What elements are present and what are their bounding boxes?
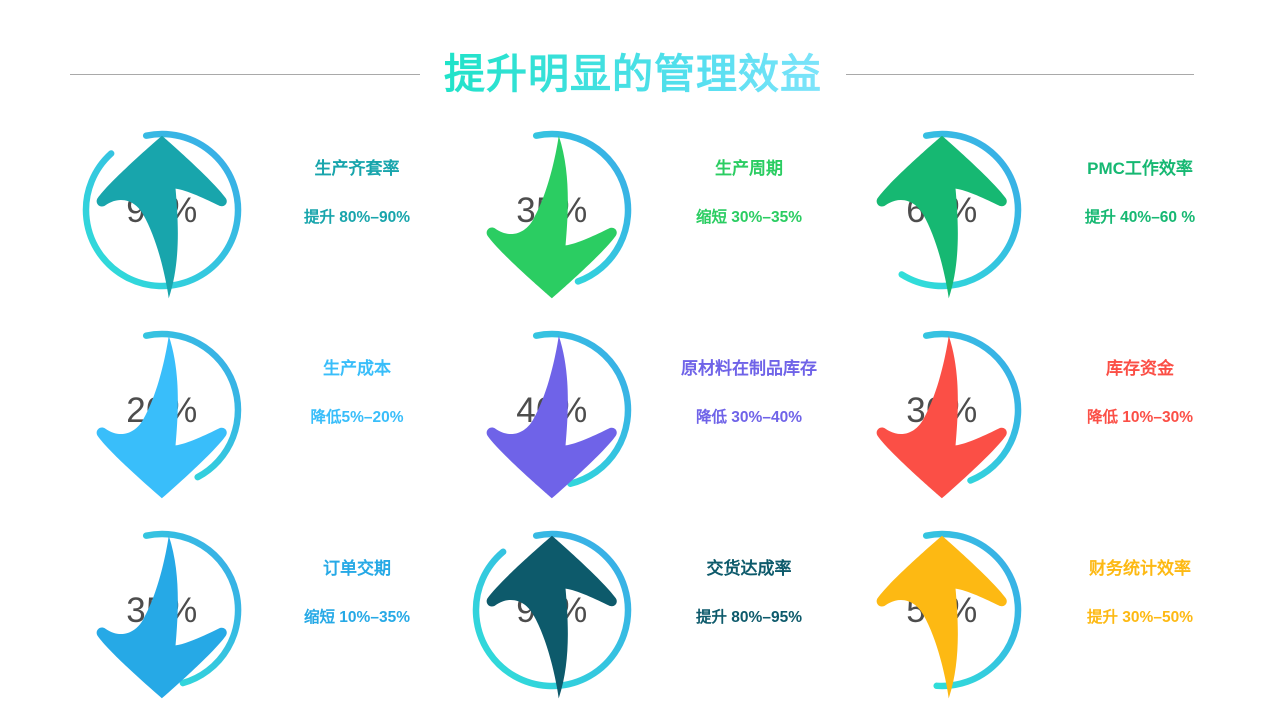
progress-ring: 20% [74, 322, 250, 498]
arrow-down-icon [854, 329, 1030, 505]
ring-center-content: 90% [74, 122, 250, 298]
header-rule-right [846, 74, 1194, 75]
arrow-up-icon [854, 129, 1030, 305]
metric-subtitle: 缩短 10%–35% [250, 610, 464, 626]
ring-center-content: 20% [74, 322, 250, 498]
header-rule-left [70, 74, 420, 75]
arrow-up-icon [464, 529, 640, 705]
metric-title: 库存资金 [1036, 360, 1244, 377]
arrow-up-icon [854, 529, 1030, 705]
metric-subtitle: 提升 40%–60 % [1036, 210, 1244, 226]
progress-ring: 35% [74, 522, 250, 698]
metric-labels: 库存资金 降低 10%–30% [1030, 322, 1244, 426]
ring-center-content: 50% [854, 522, 1030, 698]
page-title: 提升明显的管理效益 [444, 50, 822, 99]
ring-center-content: 40% [464, 322, 640, 498]
metric-subtitle: 降低 30%–40% [644, 410, 854, 426]
metric-card: 50% 财务统计效率 提升 30%–50% [854, 522, 1244, 722]
metric-title: 生产齐套率 [250, 160, 464, 177]
ring-center-content: 35% [74, 522, 250, 698]
metric-labels: 订单交期 缩短 10%–35% [250, 522, 464, 626]
arrow-down-icon [74, 329, 250, 505]
metric-subtitle: 提升 80%–90% [250, 210, 464, 226]
ring-center-content: 35% [464, 122, 640, 298]
metric-subtitle: 提升 30%–50% [1036, 610, 1244, 626]
ring-center-content: 30% [854, 322, 1030, 498]
metric-title: 订单交期 [250, 560, 464, 577]
metric-labels: 生产齐套率 提升 80%–90% [250, 122, 464, 226]
progress-ring: 50% [854, 522, 1030, 698]
metric-subtitle: 降低 10%–30% [1036, 410, 1244, 426]
metric-card: 35% 订单交期 缩短 10%–35% [74, 522, 464, 722]
metric-labels: 生产成本 降低5%–20% [250, 322, 464, 426]
metric-labels: PMC工作效率 提升 40%–60 % [1030, 122, 1244, 226]
arrow-down-icon [464, 329, 640, 505]
metric-card: 90% 生产齐套率 提升 80%–90% [74, 122, 464, 322]
metric-card: 20% 生产成本 降低5%–20% [74, 322, 464, 522]
metric-card: 30% 库存资金 降低 10%–30% [854, 322, 1244, 522]
metric-labels: 交货达成率 提升 80%–95% [640, 522, 854, 626]
ring-center-content: 95% [464, 522, 640, 698]
metric-title: PMC工作效率 [1036, 160, 1244, 177]
ring-center-content: 60% [854, 122, 1030, 298]
metric-subtitle: 提升 80%–95% [644, 610, 854, 626]
progress-ring: 60% [854, 122, 1030, 298]
arrow-down-icon [74, 529, 250, 705]
metric-title: 原材料在制品库存 [644, 360, 854, 377]
metrics-grid: 90% 生产齐套率 提升 80%–90% 35% [74, 122, 1194, 722]
metric-title: 交货达成率 [644, 560, 854, 577]
metric-card: 40% 原材料在制品库存 降低 30%–40% [464, 322, 854, 522]
metric-card: 95% 交货达成率 提升 80%–95% [464, 522, 854, 722]
progress-ring: 35% [464, 122, 640, 298]
metric-labels: 生产周期 缩短 30%–35% [640, 122, 854, 226]
metric-title: 财务统计效率 [1036, 560, 1244, 577]
arrow-up-icon [74, 129, 250, 305]
metric-title: 生产周期 [644, 160, 854, 177]
metric-subtitle: 降低5%–20% [250, 410, 464, 426]
metric-title: 生产成本 [250, 360, 464, 377]
metric-card: 60% PMC工作效率 提升 40%–60 % [854, 122, 1244, 322]
arrow-down-icon [464, 129, 640, 305]
progress-ring: 40% [464, 322, 640, 498]
page-header: 提升明显的管理效益 [0, 44, 1264, 104]
progress-ring: 90% [74, 122, 250, 298]
metric-card: 35% 生产周期 缩短 30%–35% [464, 122, 854, 322]
metric-subtitle: 缩短 30%–35% [644, 210, 854, 226]
progress-ring: 30% [854, 322, 1030, 498]
progress-ring: 95% [464, 522, 640, 698]
metric-labels: 财务统计效率 提升 30%–50% [1030, 522, 1244, 626]
metric-labels: 原材料在制品库存 降低 30%–40% [640, 322, 854, 426]
